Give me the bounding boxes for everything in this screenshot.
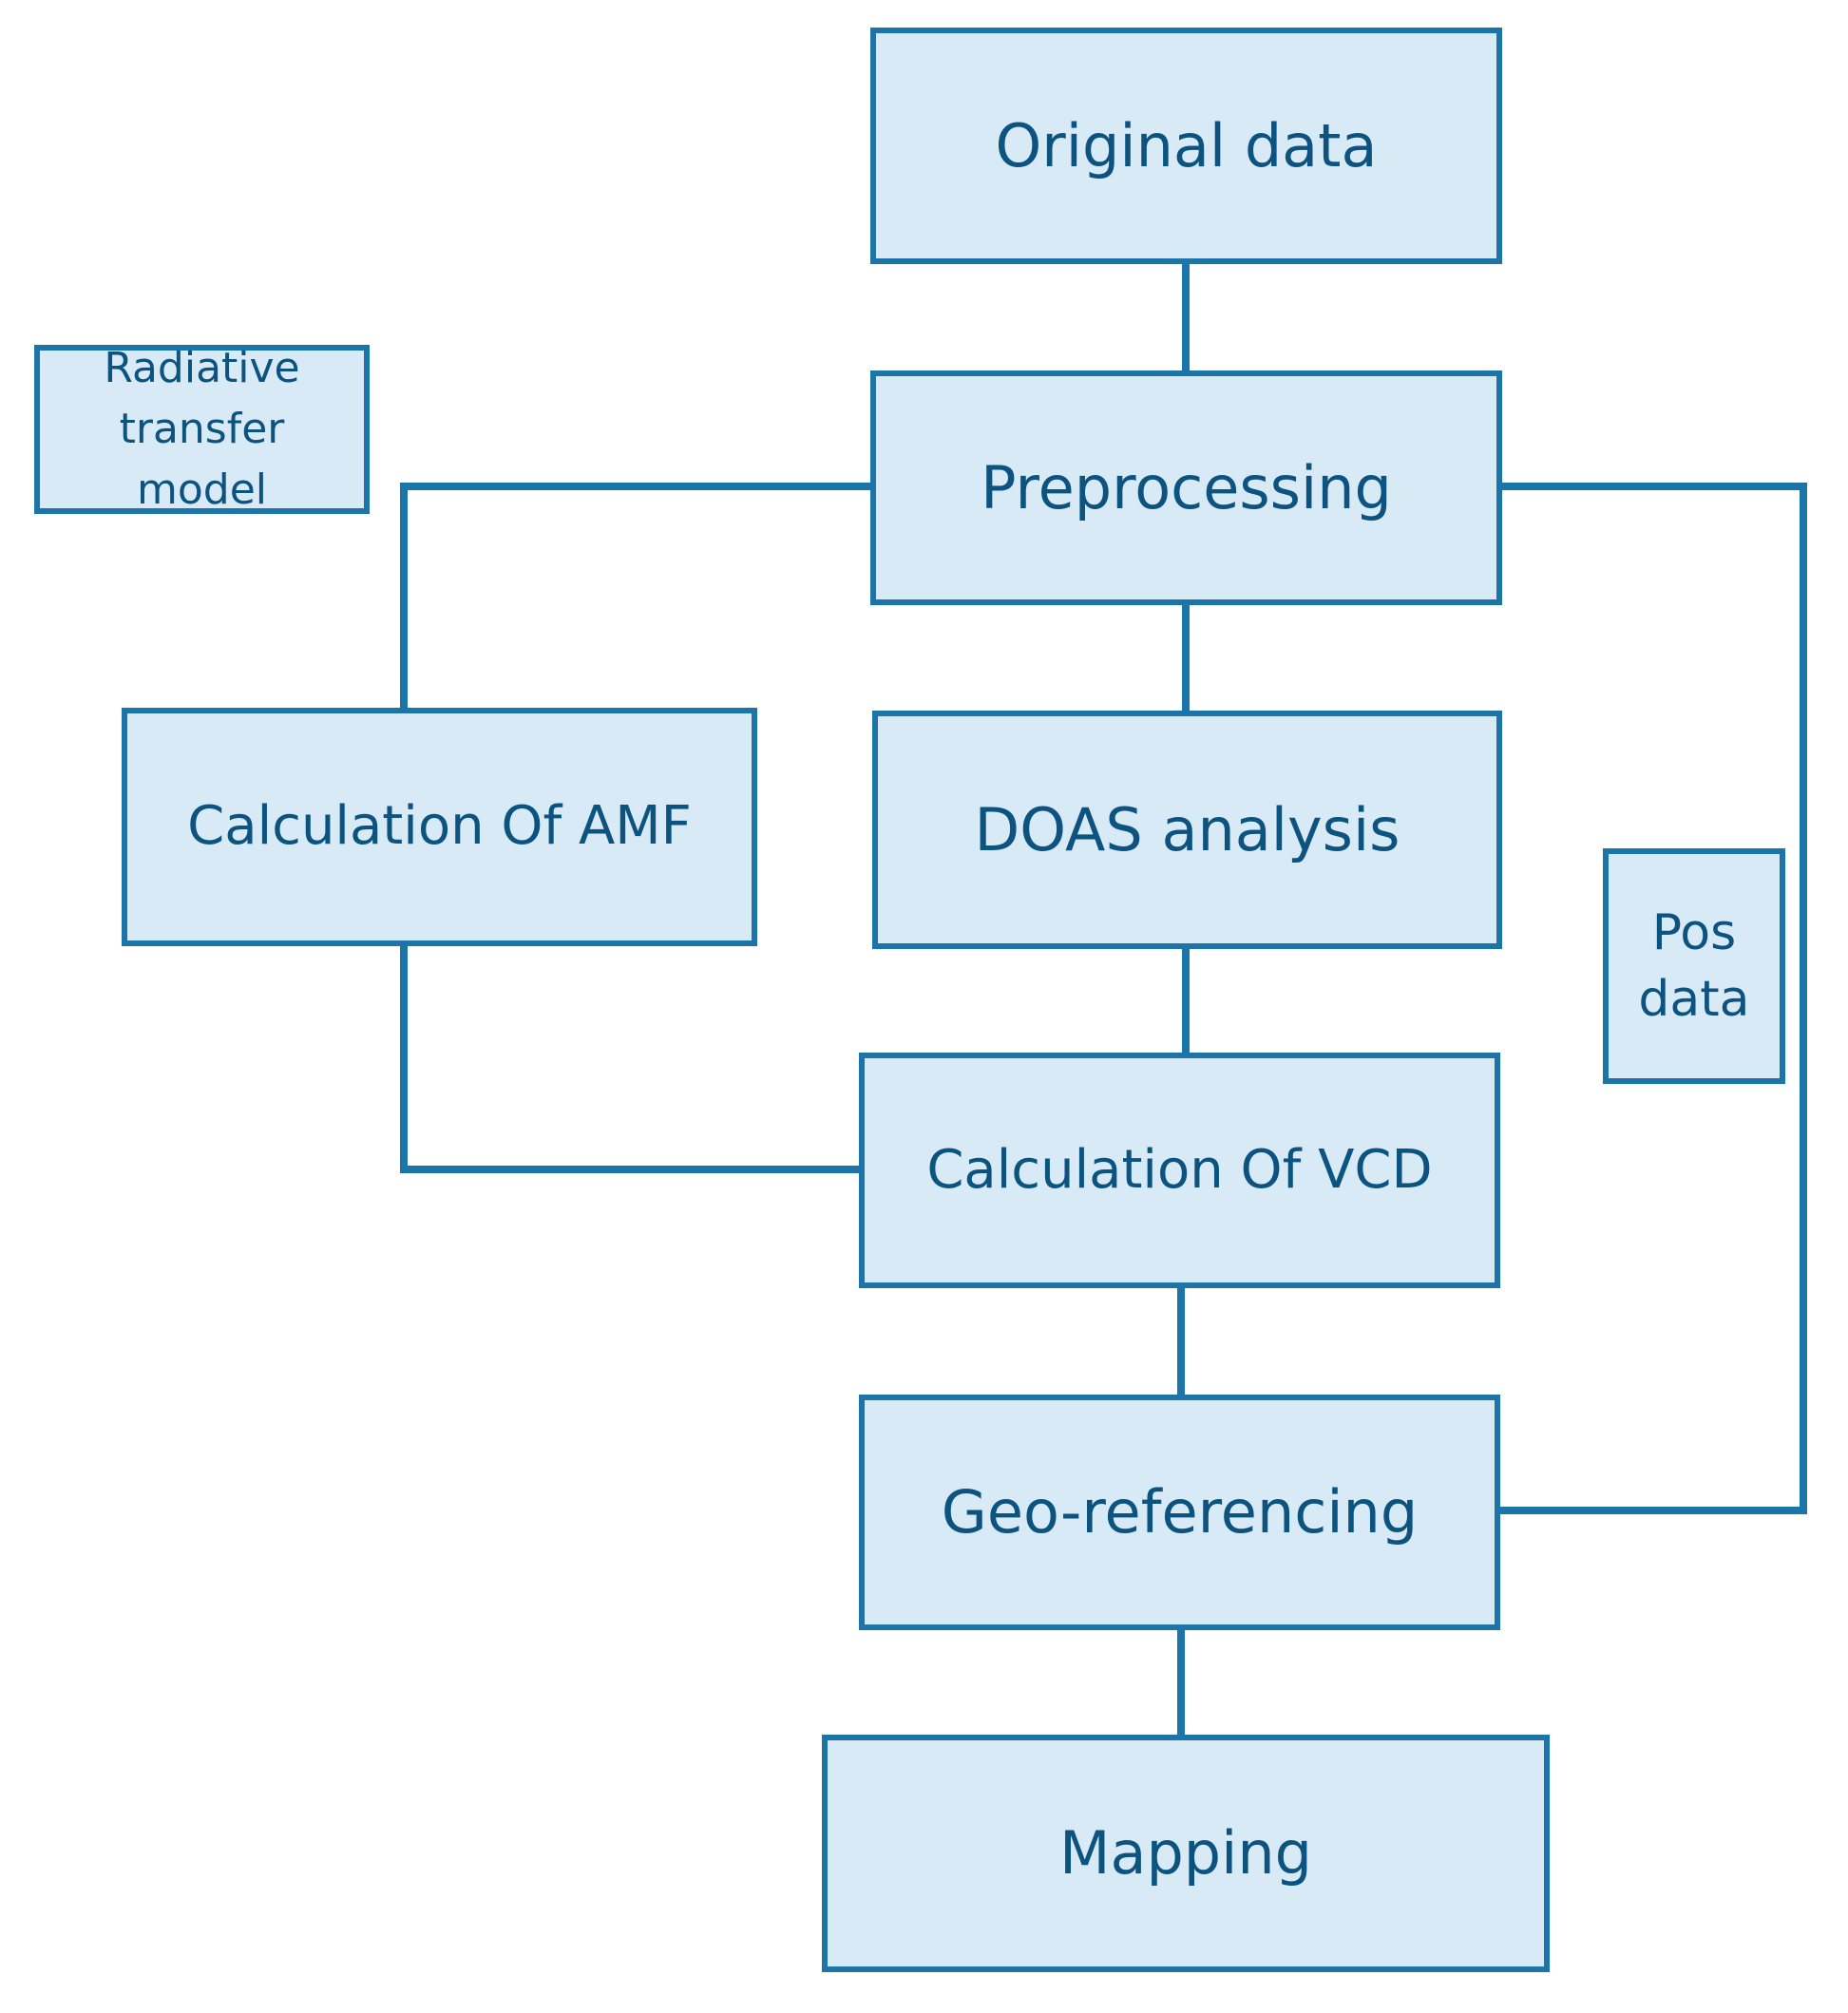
edge-preprocessing-to-amf: [404, 486, 870, 708]
node-pos-data[interactable]: Pos data: [1603, 848, 1785, 1084]
node-mapping[interactable]: Mapping: [822, 1735, 1550, 1972]
node-geo-referencing-label: Geo-referencing: [865, 1476, 1495, 1548]
node-calculation-of-amf[interactable]: Calculation Of AMF: [122, 708, 757, 946]
node-original-data[interactable]: Original data: [870, 28, 1502, 264]
node-preprocessing[interactable]: Preprocessing: [870, 370, 1502, 605]
node-calculation-of-vcd-label: Calculation Of VCD: [865, 1138, 1495, 1203]
node-preprocessing-label: Preprocessing: [876, 452, 1496, 524]
node-doas-analysis-label: DOAS analysis: [878, 794, 1496, 866]
node-original-data-label: Original data: [876, 110, 1496, 182]
node-calculation-of-amf-label: Calculation Of AMF: [127, 794, 752, 859]
node-pos-data-label: Pos data: [1609, 900, 1780, 1033]
node-calculation-of-vcd[interactable]: Calculation Of VCD: [859, 1053, 1500, 1288]
node-radiative-transfer-model-label: Radiative transfer model: [40, 338, 364, 520]
node-geo-referencing[interactable]: Geo-referencing: [859, 1395, 1500, 1630]
edge-amf-to-vcd: [404, 946, 859, 1169]
node-mapping-label: Mapping: [828, 1817, 1544, 1890]
node-doas-analysis[interactable]: DOAS analysis: [872, 711, 1502, 949]
flowchart-canvas: Original data Preprocessing Radiative tr…: [0, 0, 1848, 2013]
node-radiative-transfer-model[interactable]: Radiative transfer model: [34, 345, 370, 514]
edge-layer: [0, 0, 1848, 2013]
